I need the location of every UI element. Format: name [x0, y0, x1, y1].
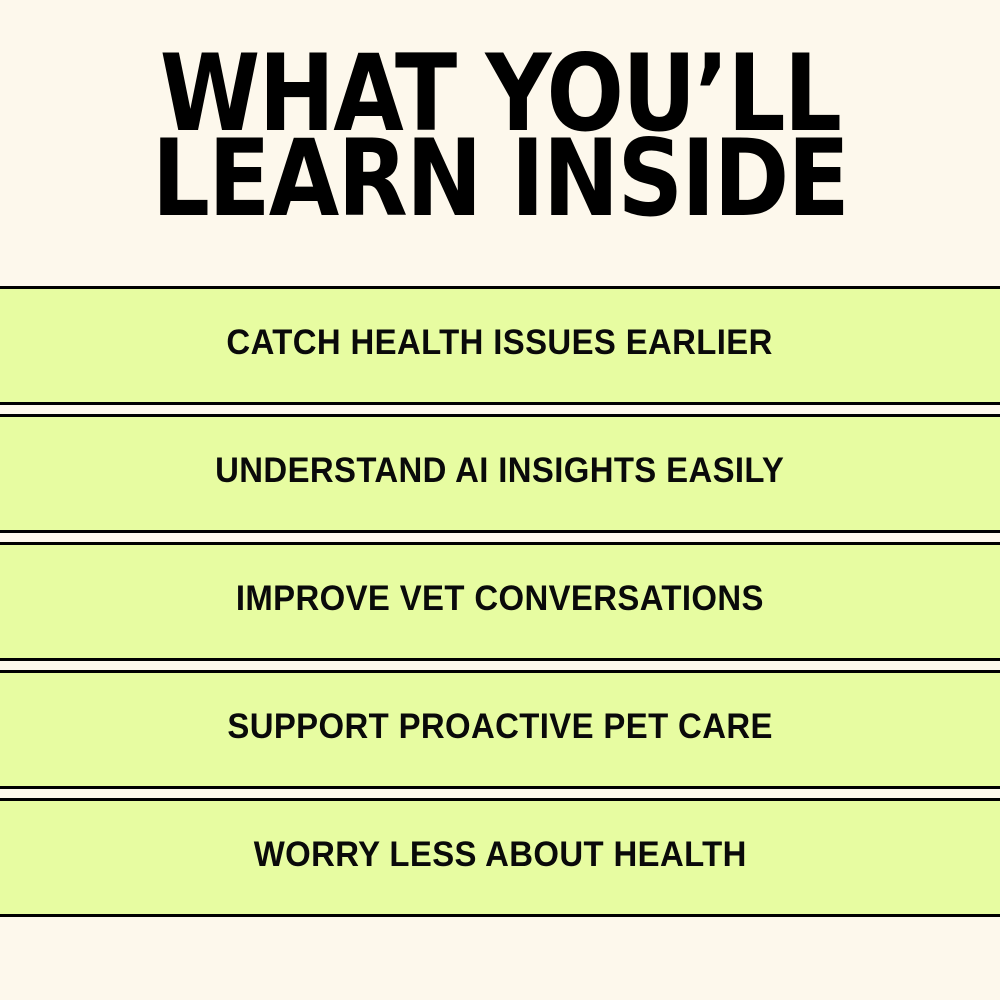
benefit-label: IMPROVE VET CONVERSATIONS [236, 581, 764, 616]
list-item: SUPPORT PROACTIVE PET CARE [0, 670, 1000, 789]
benefit-label: WORRY LESS ABOUT HEALTH [253, 837, 746, 872]
list-item: CATCH HEALTH ISSUES EARLIER [0, 286, 1000, 405]
list-item: UNDERSTAND AI INSIGHTS EASILY [0, 414, 1000, 533]
page-title: WHAT YOU’LL LEARN INSIDE [0, 46, 1000, 227]
benefit-label: UNDERSTAND AI INSIGHTS EASILY [215, 453, 784, 488]
page-title-line-2: LEARN INSIDE [70, 131, 930, 226]
benefit-label: SUPPORT PROACTIVE PET CARE [227, 709, 772, 744]
poster-canvas: WHAT YOU’LL LEARN INSIDE CATCH HEALTH IS… [0, 0, 1000, 1000]
list-item: IMPROVE VET CONVERSATIONS [0, 542, 1000, 661]
benefit-label: CATCH HEALTH ISSUES EARLIER [227, 325, 773, 360]
benefits-list: CATCH HEALTH ISSUES EARLIER UNDERSTAND A… [0, 286, 1000, 917]
list-item: WORRY LESS ABOUT HEALTH [0, 798, 1000, 917]
